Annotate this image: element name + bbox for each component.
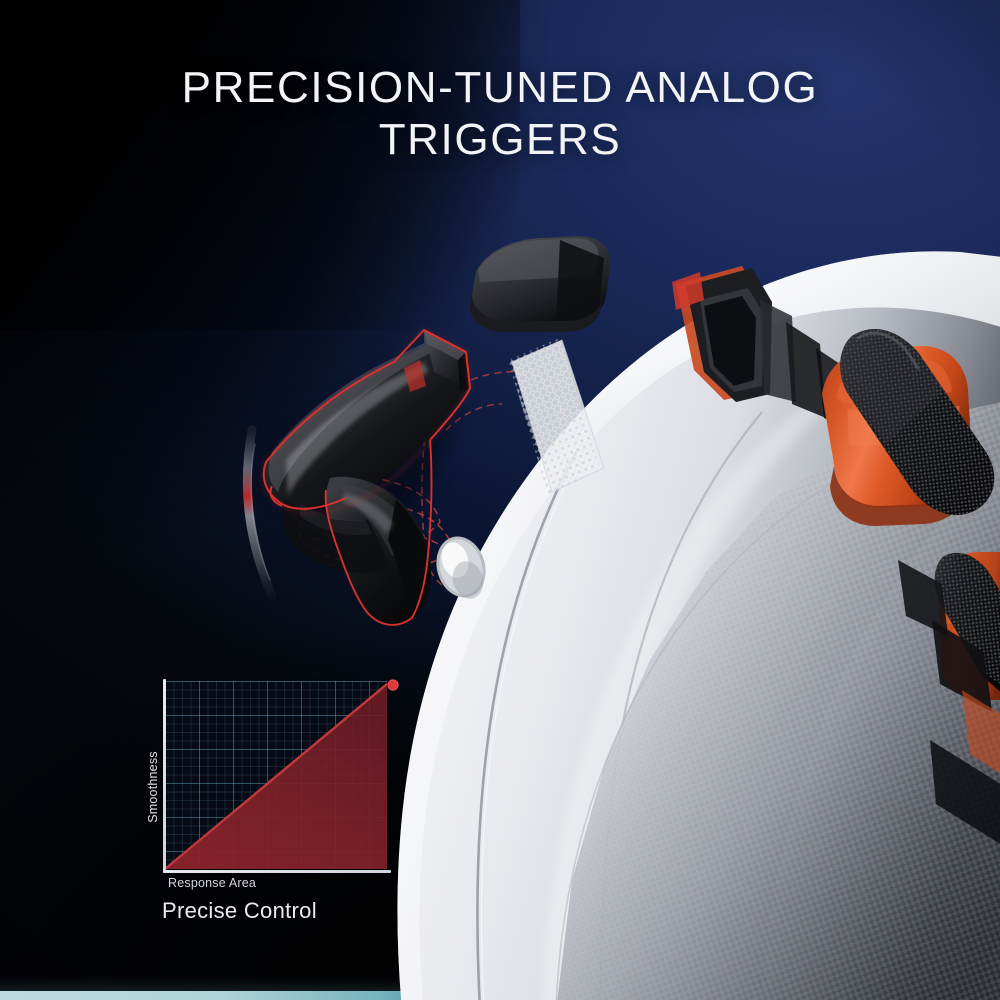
chart-y-axis-label: Smoothness [146, 732, 160, 842]
chart-plot-area [165, 681, 387, 869]
chart-x-axis [163, 870, 391, 873]
trigger-motion-arc [247, 430, 272, 596]
chart-y-axis [163, 679, 166, 873]
chart-x-axis-label: Response Area [168, 876, 256, 890]
chart-endpoint-marker [382, 674, 404, 696]
page-title: PRECISION-TUNED ANALOG TRIGGERS [0, 62, 1000, 166]
detached-analog-trigger [262, 330, 470, 625]
product-hero-image: PRECISION-TUNED ANALOG TRIGGERS [0, 0, 1000, 1000]
chart-series-svg [165, 681, 387, 869]
shoulder-bumper-left [470, 236, 610, 332]
chart-title: Precise Control [120, 898, 420, 924]
precision-response-chart: Smoothness Response Area Precise Control [120, 660, 420, 930]
headline-line-1: PRECISION-TUNED ANALOG [182, 63, 819, 112]
headline-line-2: TRIGGERS [0, 114, 1000, 166]
